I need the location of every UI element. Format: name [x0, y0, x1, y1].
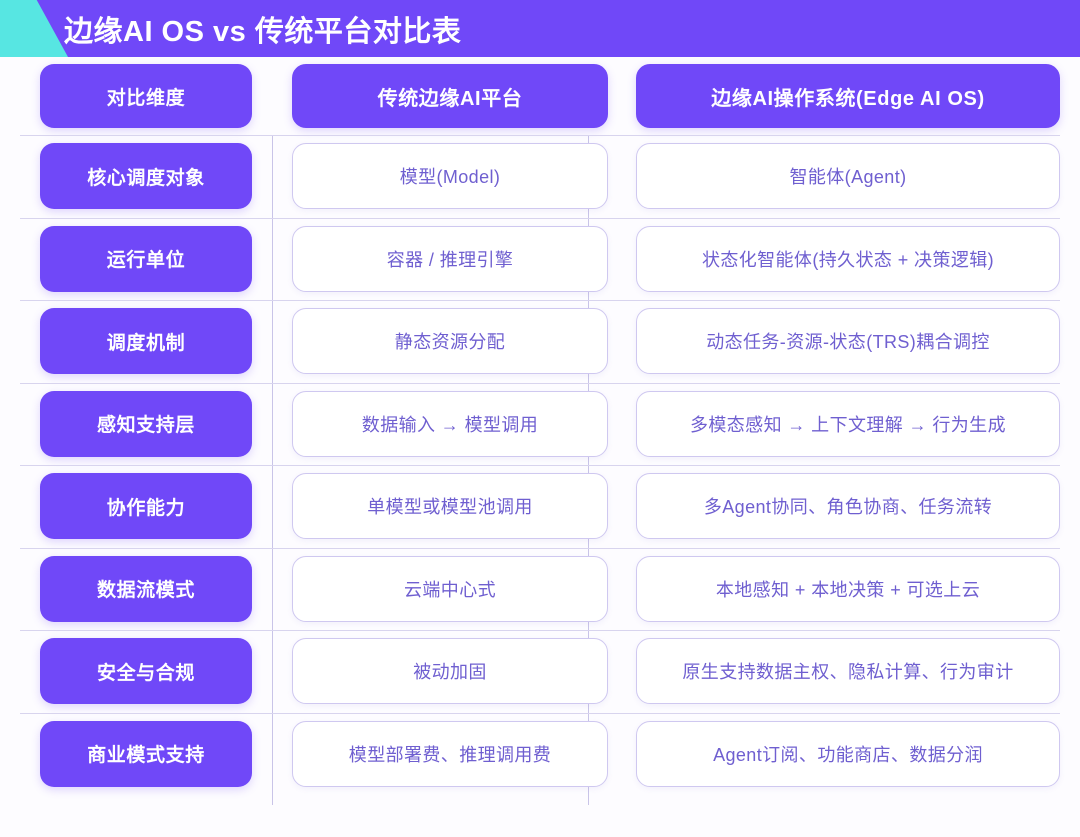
traditional-value: 模型(Model) — [292, 143, 608, 209]
table-row: 感知支持层 数据输入 → 模型调用 多模态感知 → 上下文理解 → 行为生成 — [20, 383, 1060, 466]
dimension-label: 核心调度对象 — [40, 143, 252, 209]
column-header-dimension: 对比维度 — [40, 64, 252, 128]
row-cell-dimension: 协作能力 — [20, 465, 272, 548]
traditional-value: 静态资源分配 — [292, 308, 608, 374]
row-cell-dimension: 商业模式支持 — [20, 713, 272, 796]
header-cell-traditional: 传统边缘AI平台 — [292, 57, 608, 135]
row-cell-dimension: 运行单位 — [20, 218, 272, 301]
row-cell-traditional: 单模型或模型池调用 — [292, 465, 608, 548]
traditional-value: 单模型或模型池调用 — [292, 473, 608, 539]
row-cell-traditional: 模型部署费、推理调用费 — [292, 713, 608, 796]
edge-ai-os-value: 动态任务-资源-状态(TRS)耦合调控 — [636, 308, 1060, 374]
row-cell-edge-ai-os: 多Agent协同、角色协商、任务流转 — [636, 465, 1060, 548]
dimension-label: 安全与合规 — [40, 638, 252, 704]
table-row: 运行单位 容器 / 推理引擎 状态化智能体(持久状态 + 决策逻辑) — [20, 218, 1060, 301]
edge-ai-os-value: 智能体(Agent) — [636, 143, 1060, 209]
row-cell-traditional: 数据输入 → 模型调用 — [292, 383, 608, 466]
row-cell-traditional: 模型(Model) — [292, 135, 608, 218]
table-row: 核心调度对象 模型(Model) 智能体(Agent) — [20, 135, 1060, 218]
page-title: 边缘AI OS vs 传统平台对比表 — [64, 8, 461, 50]
row-cell-edge-ai-os: 本地感知 + 本地决策 + 可选上云 — [636, 548, 1060, 631]
row-cell-edge-ai-os: 状态化智能体(持久状态 + 决策逻辑) — [636, 218, 1060, 301]
traditional-value: 数据输入 → 模型调用 — [292, 391, 608, 457]
traditional-value: 云端中心式 — [292, 556, 608, 622]
row-cell-edge-ai-os: 多模态感知 → 上下文理解 → 行为生成 — [636, 383, 1060, 466]
table-header-row: 对比维度 传统边缘AI平台 边缘AI操作系统(Edge AI OS) — [20, 57, 1060, 135]
comparison-infographic: 边缘AI OS vs 传统平台对比表 对比维度 传统边缘AI平台 边缘AI操作系… — [0, 0, 1080, 837]
row-cell-dimension: 数据流模式 — [20, 548, 272, 631]
dimension-label: 感知支持层 — [40, 391, 252, 457]
table-row: 数据流模式 云端中心式 本地感知 + 本地决策 + 可选上云 — [20, 548, 1060, 631]
dimension-label: 运行单位 — [40, 226, 252, 292]
row-cell-edge-ai-os: Agent订阅、功能商店、数据分润 — [636, 713, 1060, 796]
header-cell-dimension: 对比维度 — [20, 57, 272, 135]
row-cell-traditional: 容器 / 推理引擎 — [292, 218, 608, 301]
table-row: 商业模式支持 模型部署费、推理调用费 Agent订阅、功能商店、数据分润 — [20, 713, 1060, 796]
edge-ai-os-value: 多模态感知 → 上下文理解 → 行为生成 — [636, 391, 1060, 457]
header-cell-edge-ai-os: 边缘AI操作系统(Edge AI OS) — [636, 57, 1060, 135]
row-cell-traditional: 被动加固 — [292, 630, 608, 713]
row-cell-dimension: 调度机制 — [20, 300, 272, 383]
dimension-label: 商业模式支持 — [40, 721, 252, 787]
dimension-label: 调度机制 — [40, 308, 252, 374]
row-cell-edge-ai-os: 原生支持数据主权、隐私计算、行为审计 — [636, 630, 1060, 713]
row-cell-traditional: 静态资源分配 — [292, 300, 608, 383]
table-row: 协作能力 单模型或模型池调用 多Agent协同、角色协商、任务流转 — [20, 465, 1060, 548]
traditional-value: 被动加固 — [292, 638, 608, 704]
edge-ai-os-value: Agent订阅、功能商店、数据分润 — [636, 721, 1060, 787]
edge-ai-os-value: 本地感知 + 本地决策 + 可选上云 — [636, 556, 1060, 622]
edge-ai-os-value: 多Agent协同、角色协商、任务流转 — [636, 473, 1060, 539]
comparison-table: 对比维度 传统边缘AI平台 边缘AI操作系统(Edge AI OS) 核心调度对… — [0, 57, 1080, 837]
table-row: 调度机制 静态资源分配 动态任务-资源-状态(TRS)耦合调控 — [20, 300, 1060, 383]
dimension-label: 数据流模式 — [40, 556, 252, 622]
row-cell-dimension: 感知支持层 — [20, 383, 272, 466]
traditional-value: 模型部署费、推理调用费 — [292, 721, 608, 787]
column-header-traditional: 传统边缘AI平台 — [292, 64, 608, 128]
traditional-value: 容器 / 推理引擎 — [292, 226, 608, 292]
table-row: 安全与合规 被动加固 原生支持数据主权、隐私计算、行为审计 — [20, 630, 1060, 713]
edge-ai-os-value: 原生支持数据主权、隐私计算、行为审计 — [636, 638, 1060, 704]
row-cell-dimension: 安全与合规 — [20, 630, 272, 713]
column-header-edge-ai-os: 边缘AI操作系统(Edge AI OS) — [636, 64, 1060, 128]
row-cell-traditional: 云端中心式 — [292, 548, 608, 631]
row-cell-edge-ai-os: 智能体(Agent) — [636, 135, 1060, 218]
edge-ai-os-value: 状态化智能体(持久状态 + 决策逻辑) — [636, 226, 1060, 292]
header-bar: 边缘AI OS vs 传统平台对比表 — [0, 0, 1080, 57]
header-accent-shape — [0, 0, 68, 57]
dimension-label: 协作能力 — [40, 473, 252, 539]
row-cell-dimension: 核心调度对象 — [20, 135, 272, 218]
row-cell-edge-ai-os: 动态任务-资源-状态(TRS)耦合调控 — [636, 300, 1060, 383]
